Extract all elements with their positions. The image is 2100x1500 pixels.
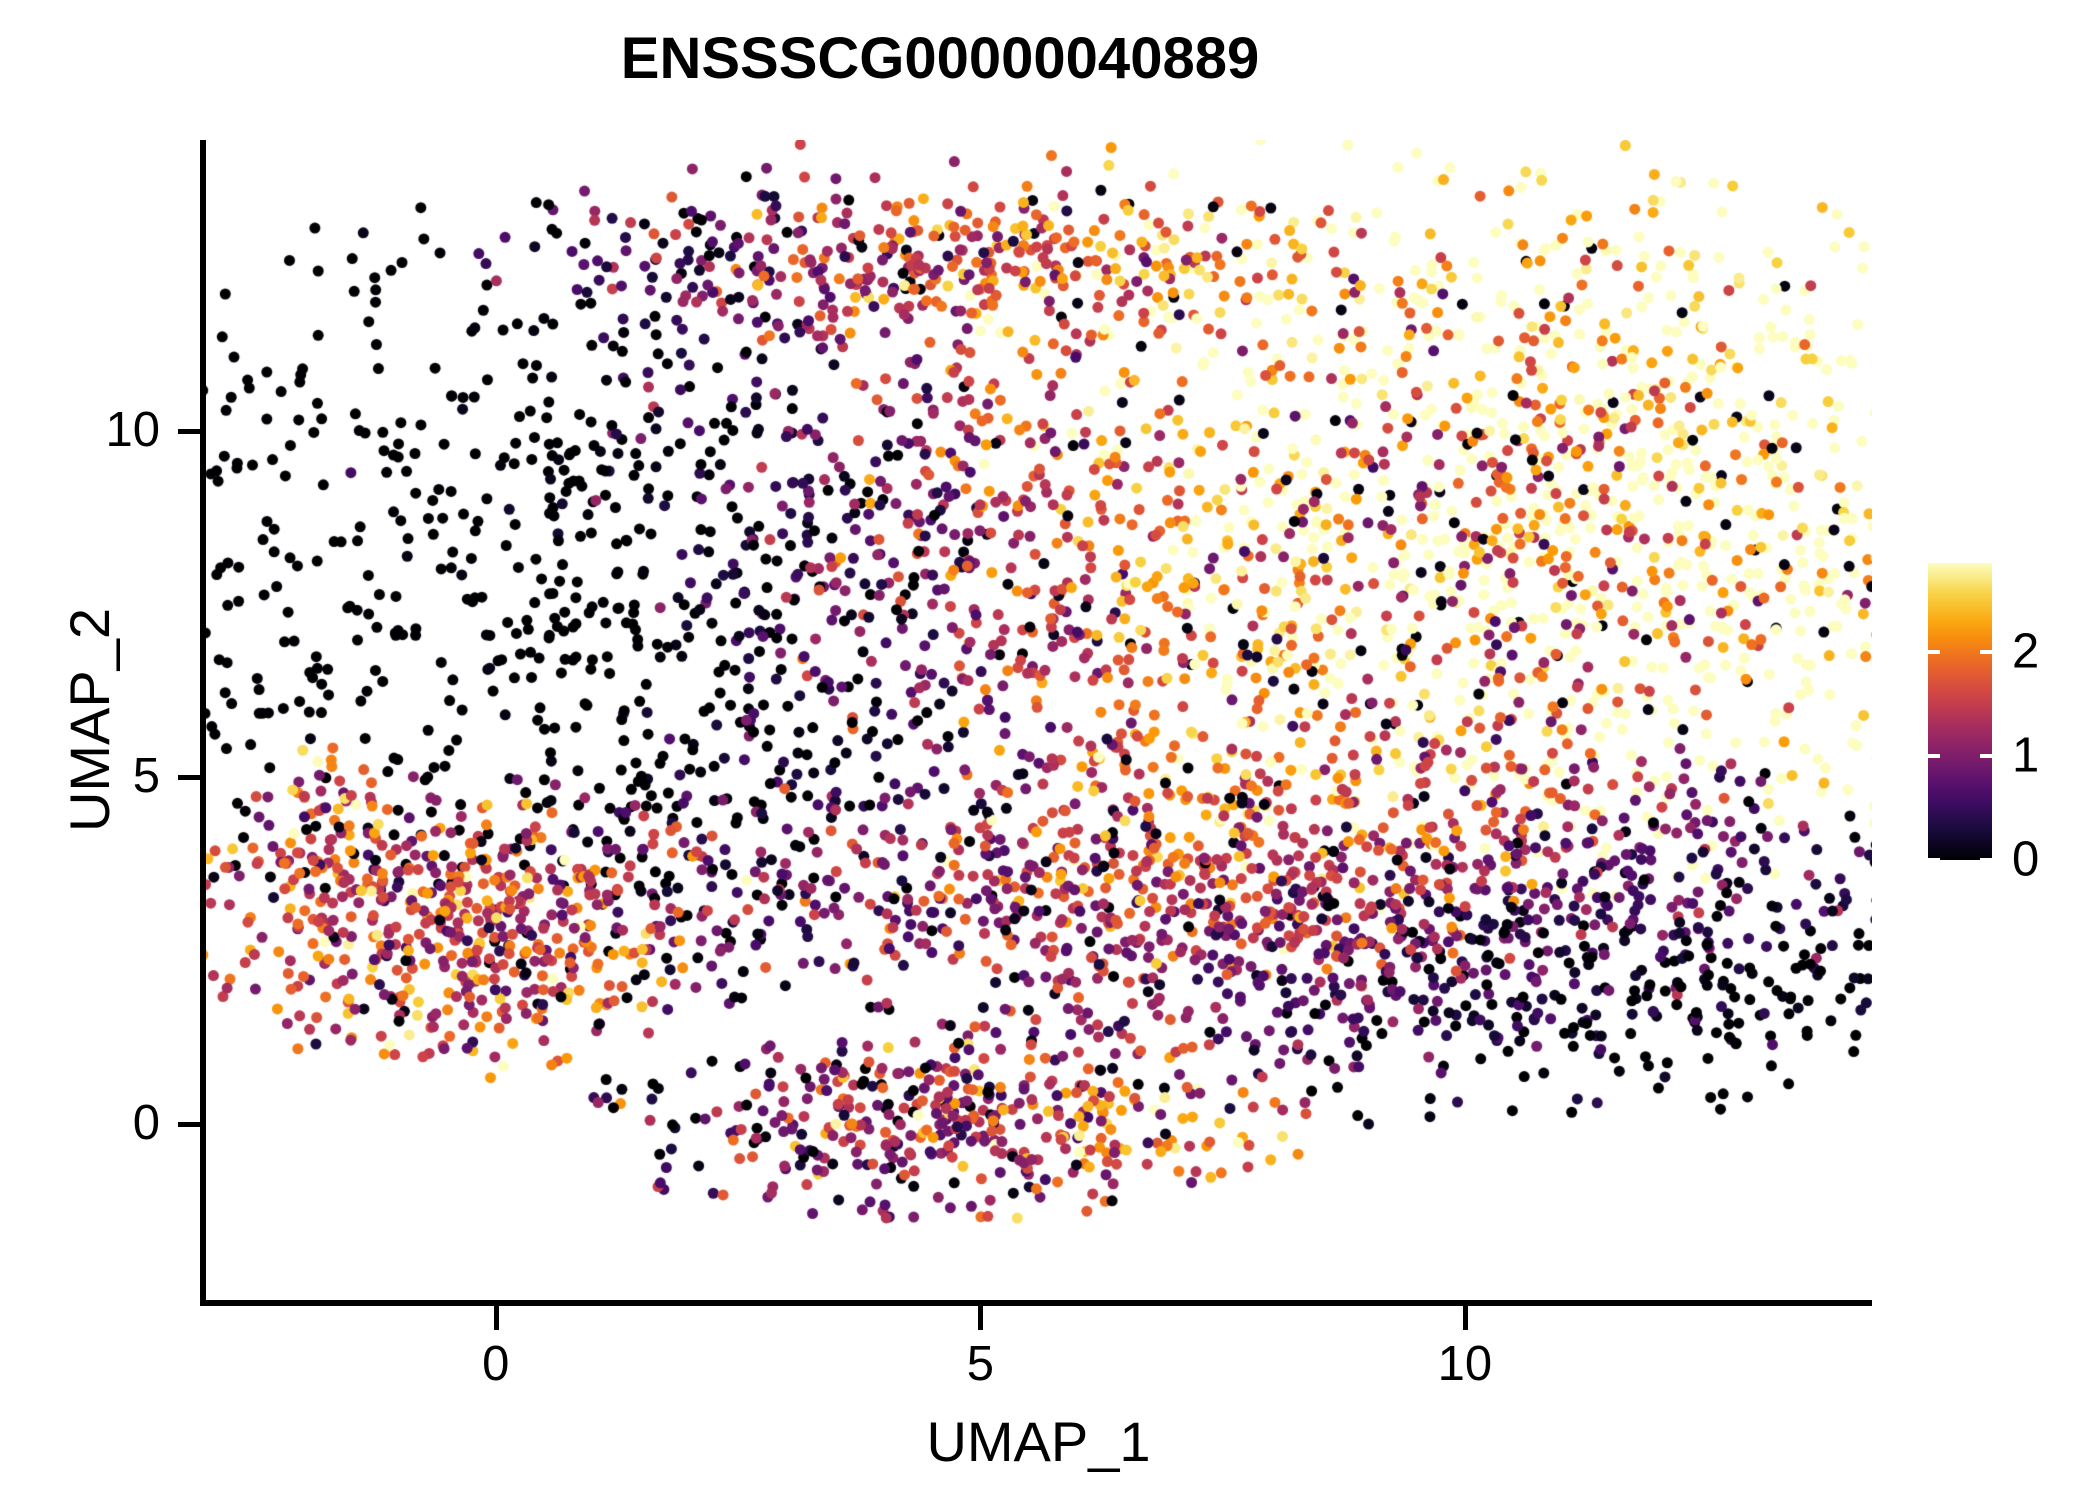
y-axis-title: UMAP_2 bbox=[60, 320, 120, 1120]
x-tick-mark bbox=[978, 1306, 983, 1330]
colorbar-tick bbox=[1928, 754, 1940, 758]
colorbar-label: 2 bbox=[2012, 627, 2039, 676]
colorbar-tick bbox=[1928, 858, 1940, 862]
y-tick-mark bbox=[178, 775, 202, 780]
y-tick-mark bbox=[178, 1122, 202, 1127]
x-tick-label: 10 bbox=[1405, 1340, 1525, 1389]
colorbar-label: 0 bbox=[2012, 836, 2039, 885]
colorbar-label: 1 bbox=[2012, 731, 2039, 780]
expression-colorbar-legend: 210 bbox=[1928, 563, 2088, 863]
x-tick-mark bbox=[1463, 1306, 1468, 1330]
colorbar-tick bbox=[1980, 858, 1992, 862]
y-axis-line bbox=[200, 140, 206, 1306]
scatter-points-canvas bbox=[205, 140, 1872, 1304]
page-title: ENSSSCG00000040889 bbox=[0, 24, 1880, 94]
colorbar-tick bbox=[1980, 754, 1992, 758]
colorbar-tick bbox=[1980, 650, 1992, 654]
x-axis-line bbox=[200, 1300, 1872, 1306]
colorbar-tick bbox=[1928, 650, 1940, 654]
colorbar-gradient bbox=[1928, 563, 1992, 860]
umap-feature-plot: ENSSSCG00000040889 0510 0510 UMAP_1 UMAP… bbox=[0, 0, 2100, 1500]
x-tick-label: 0 bbox=[436, 1340, 556, 1389]
x-tick-label: 5 bbox=[920, 1340, 1040, 1389]
y-tick-mark bbox=[178, 429, 202, 434]
plot-panel bbox=[205, 140, 1872, 1304]
x-tick-mark bbox=[494, 1306, 499, 1330]
x-axis-title: UMAP_1 bbox=[205, 1412, 1872, 1472]
